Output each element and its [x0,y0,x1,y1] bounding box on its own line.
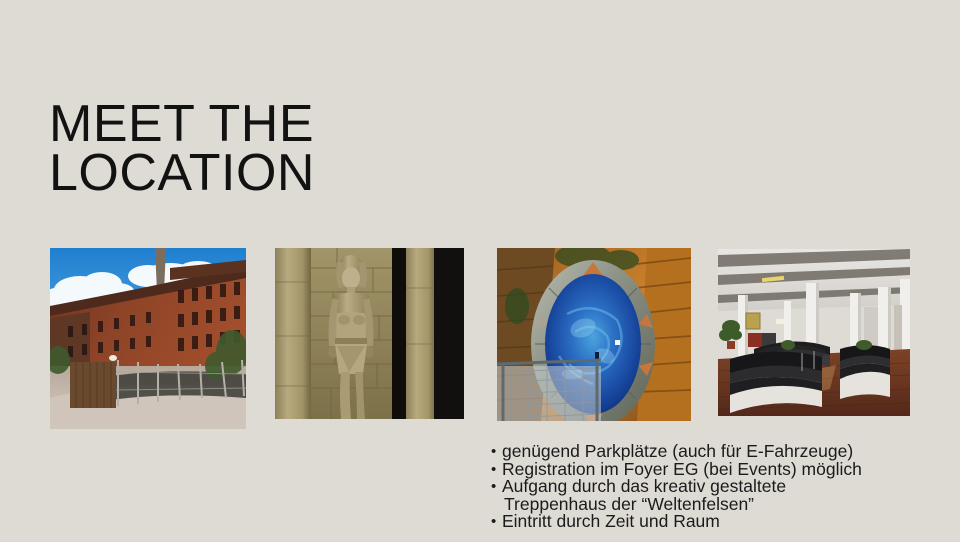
photo-lounge [718,249,910,416]
photo-building [50,248,246,429]
page-title: MEET THE LOCATION [49,100,469,198]
bullet-marker-icon: • [491,513,502,531]
bullet-marker-icon: • [491,461,502,479]
bullet-list: •genügend Parkplätze (auch für E-Fahrzeu… [491,443,911,531]
page-title-line-2: LOCATION [49,149,469,198]
list-item-label: Eintritt durch Zeit und Raum [502,513,720,531]
photo-lounge-image [718,249,910,416]
photo-statue [275,248,464,419]
bullet-marker-icon: • [491,443,502,461]
presentation-slide: MEET THE LOCATION [0,0,960,542]
photo-building-image [50,248,246,429]
photo-portal [497,248,691,421]
list-item: •genügend Parkplätze (auch für E-Fahrzeu… [491,443,911,461]
bullet-marker-icon: • [491,478,502,496]
photo-statue-image [275,248,464,419]
list-item: •Eintritt durch Zeit und Raum [491,513,911,531]
list-item-label: genügend Parkplätze (auch für E-Fahrzeug… [502,443,853,461]
photo-portal-image [497,248,691,421]
page-title-line-1: MEET THE [49,100,469,149]
